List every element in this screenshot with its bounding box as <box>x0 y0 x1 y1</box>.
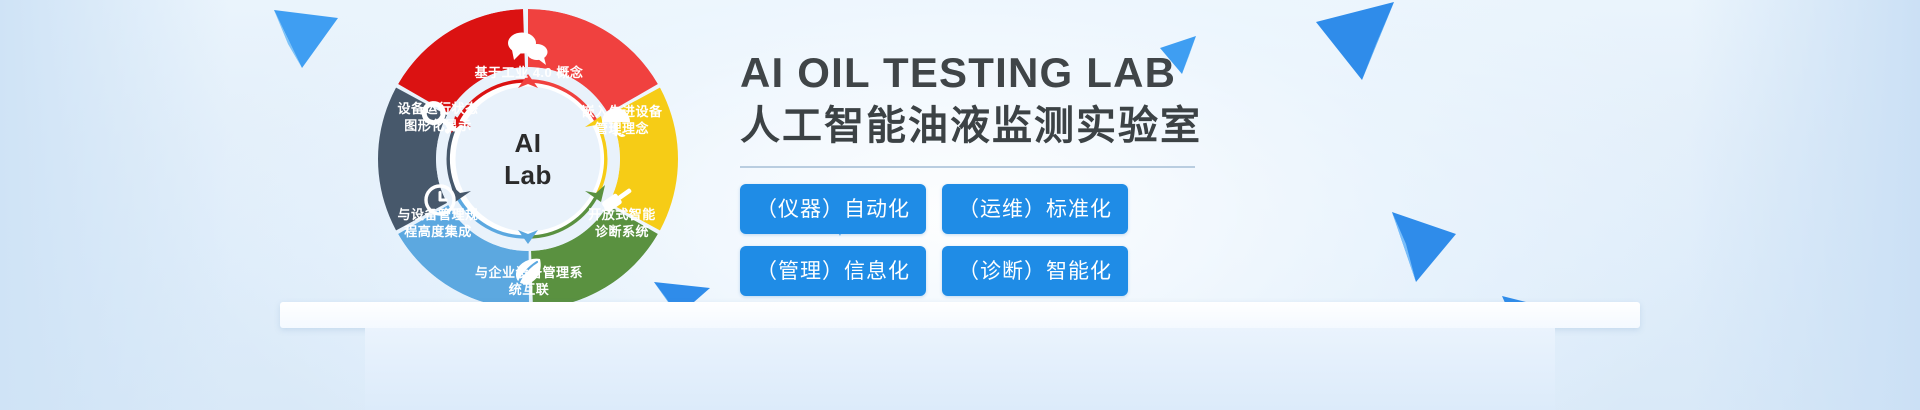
page-title-en: AI OIL TESTING LAB <box>740 48 1500 98</box>
wheel-center-text: AI Lab <box>504 127 552 191</box>
title-divider <box>740 166 1195 168</box>
feature-tag-standardization[interactable]: （运维）标准化 <box>942 184 1128 234</box>
decorative-triangle-1 <box>272 8 342 72</box>
feature-tag-informatization[interactable]: （管理）信息化 <box>740 246 926 296</box>
wheel-center-line1: AI <box>504 127 552 159</box>
feature-tag-list: （仪器）自动化 （运维）标准化 （管理）信息化 （诊断）智能化 <box>740 184 1210 296</box>
ai-lab-wheel: 基于工业 4.0 概念 嵌入先进设备 管理理念 开放式智能 诊断系统 与企业设备… <box>378 8 678 310</box>
feature-tag-intelligence[interactable]: （诊断）智能化 <box>942 246 1128 296</box>
wheel-center-line2: Lab <box>504 159 552 191</box>
pedestal-top <box>280 302 1640 328</box>
background-wall-left <box>0 0 230 410</box>
page-title-cn: 人工智能油液监测实验室 <box>740 100 1500 152</box>
feature-tag-automation[interactable]: （仪器）自动化 <box>740 184 926 234</box>
pedestal-riser <box>365 328 1555 410</box>
background-wall-right <box>1690 0 1920 410</box>
pedestal-platform <box>280 302 1640 410</box>
headline-block: AI OIL TESTING LAB 人工智能油液监测实验室 （仪器）自动化 （… <box>740 48 1500 296</box>
banner-root: 基于工业 4.0 概念 嵌入先进设备 管理理念 开放式智能 诊断系统 与企业设备… <box>0 0 1920 410</box>
